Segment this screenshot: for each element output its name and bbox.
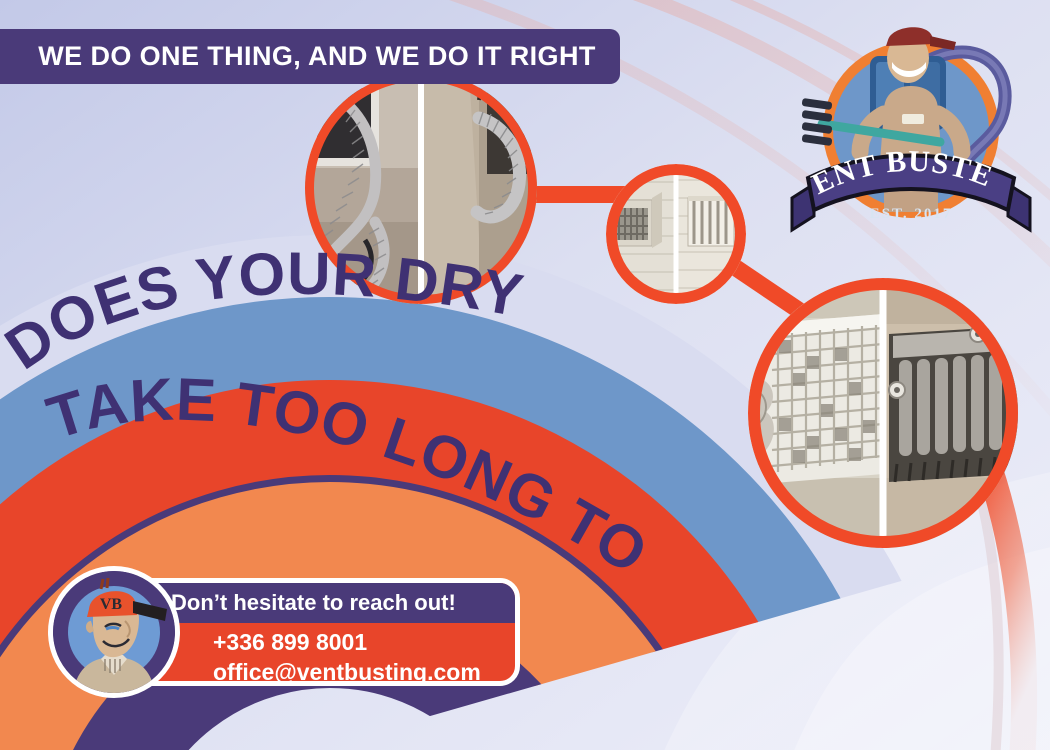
mascot-avatar: VB — [48, 566, 180, 698]
photo-circle-exterior-vent — [606, 164, 746, 304]
photo-divider — [418, 72, 424, 304]
photo-dirty-flex-duct — [305, 72, 421, 304]
header-banner-text: WE DO ONE THING, AND WE DO IT RIGHT — [10, 41, 609, 72]
contact-phone[interactable]: +336 899 8001 — [213, 627, 515, 657]
photo-circle-vent-grille — [748, 278, 1018, 548]
cap-monogram: VB — [100, 596, 123, 613]
photo-clogged-wall-vent — [606, 164, 676, 304]
photo-lint-clogged-grille — [748, 278, 883, 548]
contact-heading: Don’t hesitate to reach out! — [171, 590, 456, 616]
contact-card-body: +336 899 8001 office@ventbusting.com — [121, 623, 515, 686]
photo-divider — [880, 278, 887, 548]
contact-email[interactable]: office@ventbusting.com — [213, 657, 515, 686]
vent-busters-logo: VENT BUSTERS EST. 2017 — [780, 2, 1042, 242]
contact-card-header: Don’t hesitate to reach out! — [121, 583, 515, 623]
header-banner: WE DO ONE THING, AND WE DO IT RIGHT — [0, 29, 620, 84]
poster-canvas: WE DO ONE THING, AND WE DO IT RIGHT — [0, 0, 1050, 750]
photo-clean-flex-duct — [421, 72, 537, 304]
photo-circle-dryer-duct — [305, 72, 537, 304]
photo-clean-louvered-vent — [883, 278, 1018, 548]
logo-established: EST. 2017 — [870, 206, 953, 222]
photo-clean-wall-vent — [676, 164, 746, 304]
photo-divider — [674, 164, 679, 304]
